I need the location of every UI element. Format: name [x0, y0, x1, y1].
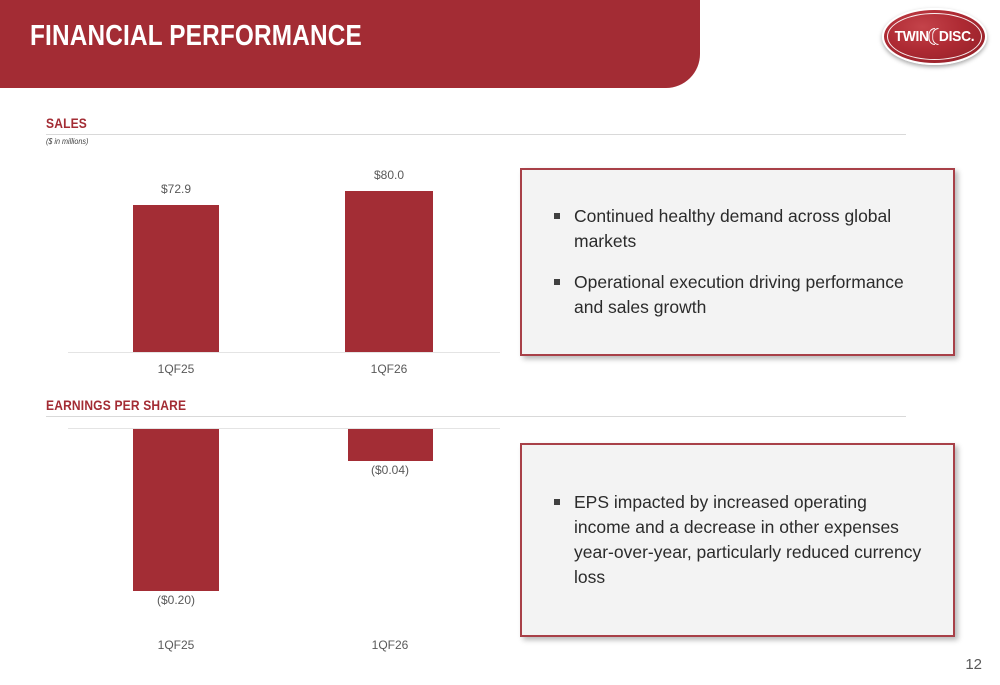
eps-category-label-1qf25: 1QF25 — [131, 638, 221, 652]
logo-text-disc: DISC. — [939, 28, 974, 45]
list-item: Continued healthy demand across global m… — [548, 204, 927, 254]
eps-value-label-1qf25: ($0.20) — [131, 593, 221, 607]
section-divider-eps — [46, 416, 906, 417]
logo-disc-icon — [929, 28, 939, 45]
sales-chart-axis — [68, 352, 500, 353]
eps-category-label-1qf26: 1QF26 — [345, 638, 435, 652]
sales-bar-1qf26 — [345, 191, 433, 352]
section-divider-sales — [46, 134, 906, 135]
sales-bar-chart: $72.9 $80.0 1QF25 1QF26 — [60, 160, 500, 380]
section-heading-sales: SALES — [46, 115, 87, 131]
sales-category-label-1qf26: 1QF26 — [344, 362, 434, 376]
sales-units-note: ($ in millions) — [46, 137, 88, 146]
sales-bullet-1: Continued healthy demand across global m… — [574, 204, 927, 254]
eps-value-label-1qf26: ($0.04) — [345, 463, 435, 477]
square-bullet-icon — [554, 213, 560, 219]
logo-text-twin: TWIN — [895, 28, 929, 45]
twin-disc-logo: TWIN DISC. — [882, 8, 987, 65]
sales-callout-box: Continued healthy demand across global m… — [520, 168, 955, 356]
square-bullet-icon — [554, 279, 560, 285]
list-item: Operational execution driving performanc… — [548, 270, 927, 320]
page-title: FINANCIAL PERFORMANCE — [30, 20, 362, 53]
sales-value-label-1qf26: $80.0 — [344, 168, 434, 182]
eps-bullet-1: EPS impacted by increased operating inco… — [574, 490, 927, 589]
eps-bar-1qf25 — [133, 429, 219, 591]
eps-callout-box: EPS impacted by increased operating inco… — [520, 443, 955, 637]
sales-category-label-1qf25: 1QF25 — [131, 362, 221, 376]
list-item: EPS impacted by increased operating inco… — [548, 490, 927, 589]
sales-value-label-1qf25: $72.9 — [131, 182, 221, 196]
sales-bar-1qf25 — [133, 205, 219, 352]
eps-bar-1qf26 — [348, 429, 433, 461]
logo-wordmark: TWIN DISC. — [886, 8, 983, 65]
section-heading-eps: EARNINGS PER SHARE — [46, 397, 186, 413]
sales-bullet-2: Operational execution driving performanc… — [574, 270, 927, 320]
square-bullet-icon — [554, 499, 560, 505]
eps-bar-chart: ($0.20) ($0.04) 1QF25 1QF26 — [60, 420, 500, 660]
page-number: 12 — [965, 656, 982, 673]
